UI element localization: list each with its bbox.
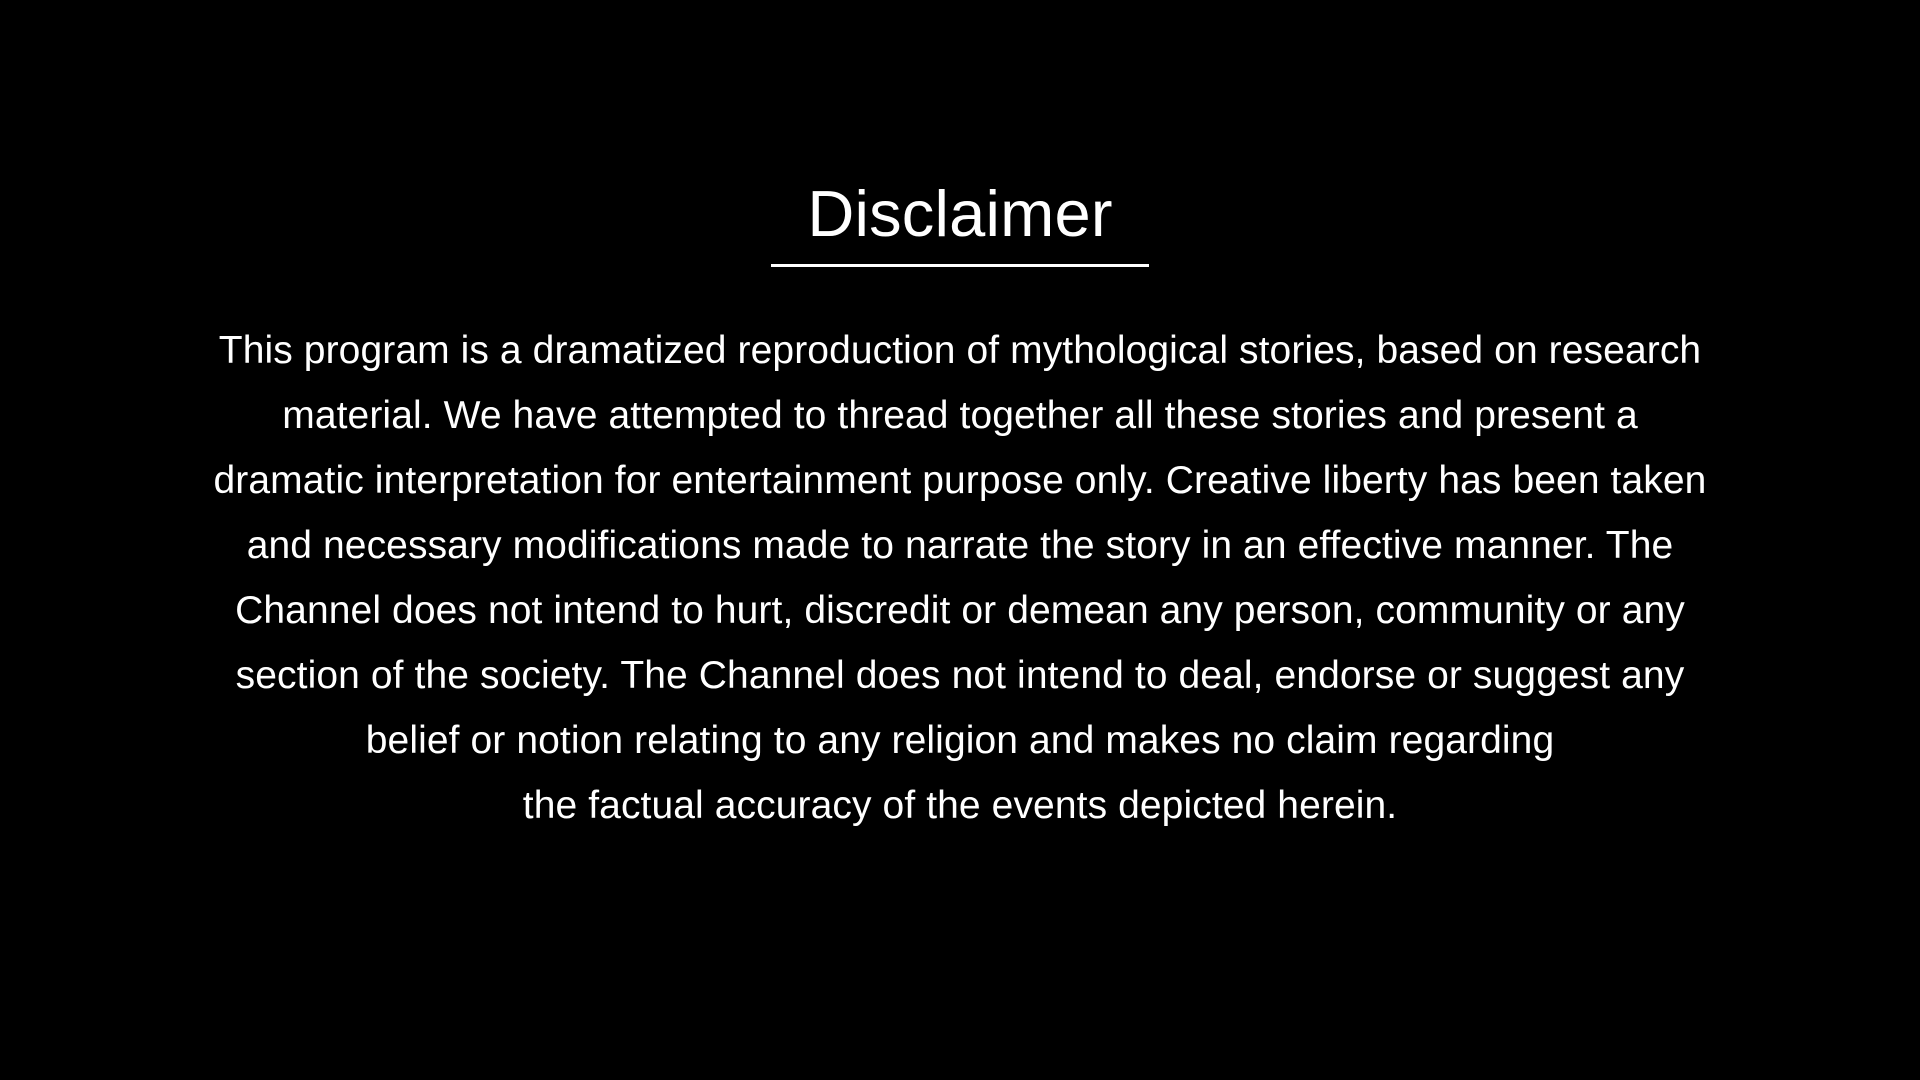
- disclaimer-line: Channel does not intend to hurt, discred…: [110, 578, 1810, 643]
- disclaimer-line: the factual accuracy of the events depic…: [110, 773, 1810, 838]
- disclaimer-slide: Disclaimer This program is a dramatized …: [0, 0, 1920, 1080]
- disclaimer-line: This program is a dramatized reproductio…: [110, 318, 1810, 383]
- disclaimer-line: dramatic interpretation for entertainmen…: [110, 448, 1810, 513]
- page-title: Disclaimer: [0, 178, 1920, 250]
- disclaimer-line: section of the society. The Channel does…: [110, 643, 1810, 708]
- disclaimer-line: belief or notion relating to any religio…: [110, 708, 1810, 773]
- title-block: Disclaimer: [0, 178, 1920, 267]
- disclaimer-body: This program is a dramatized reproductio…: [110, 318, 1810, 838]
- disclaimer-line: and necessary modifications made to narr…: [110, 513, 1810, 578]
- title-underline-rule: [771, 264, 1149, 267]
- disclaimer-line: material. We have attempted to thread to…: [110, 383, 1810, 448]
